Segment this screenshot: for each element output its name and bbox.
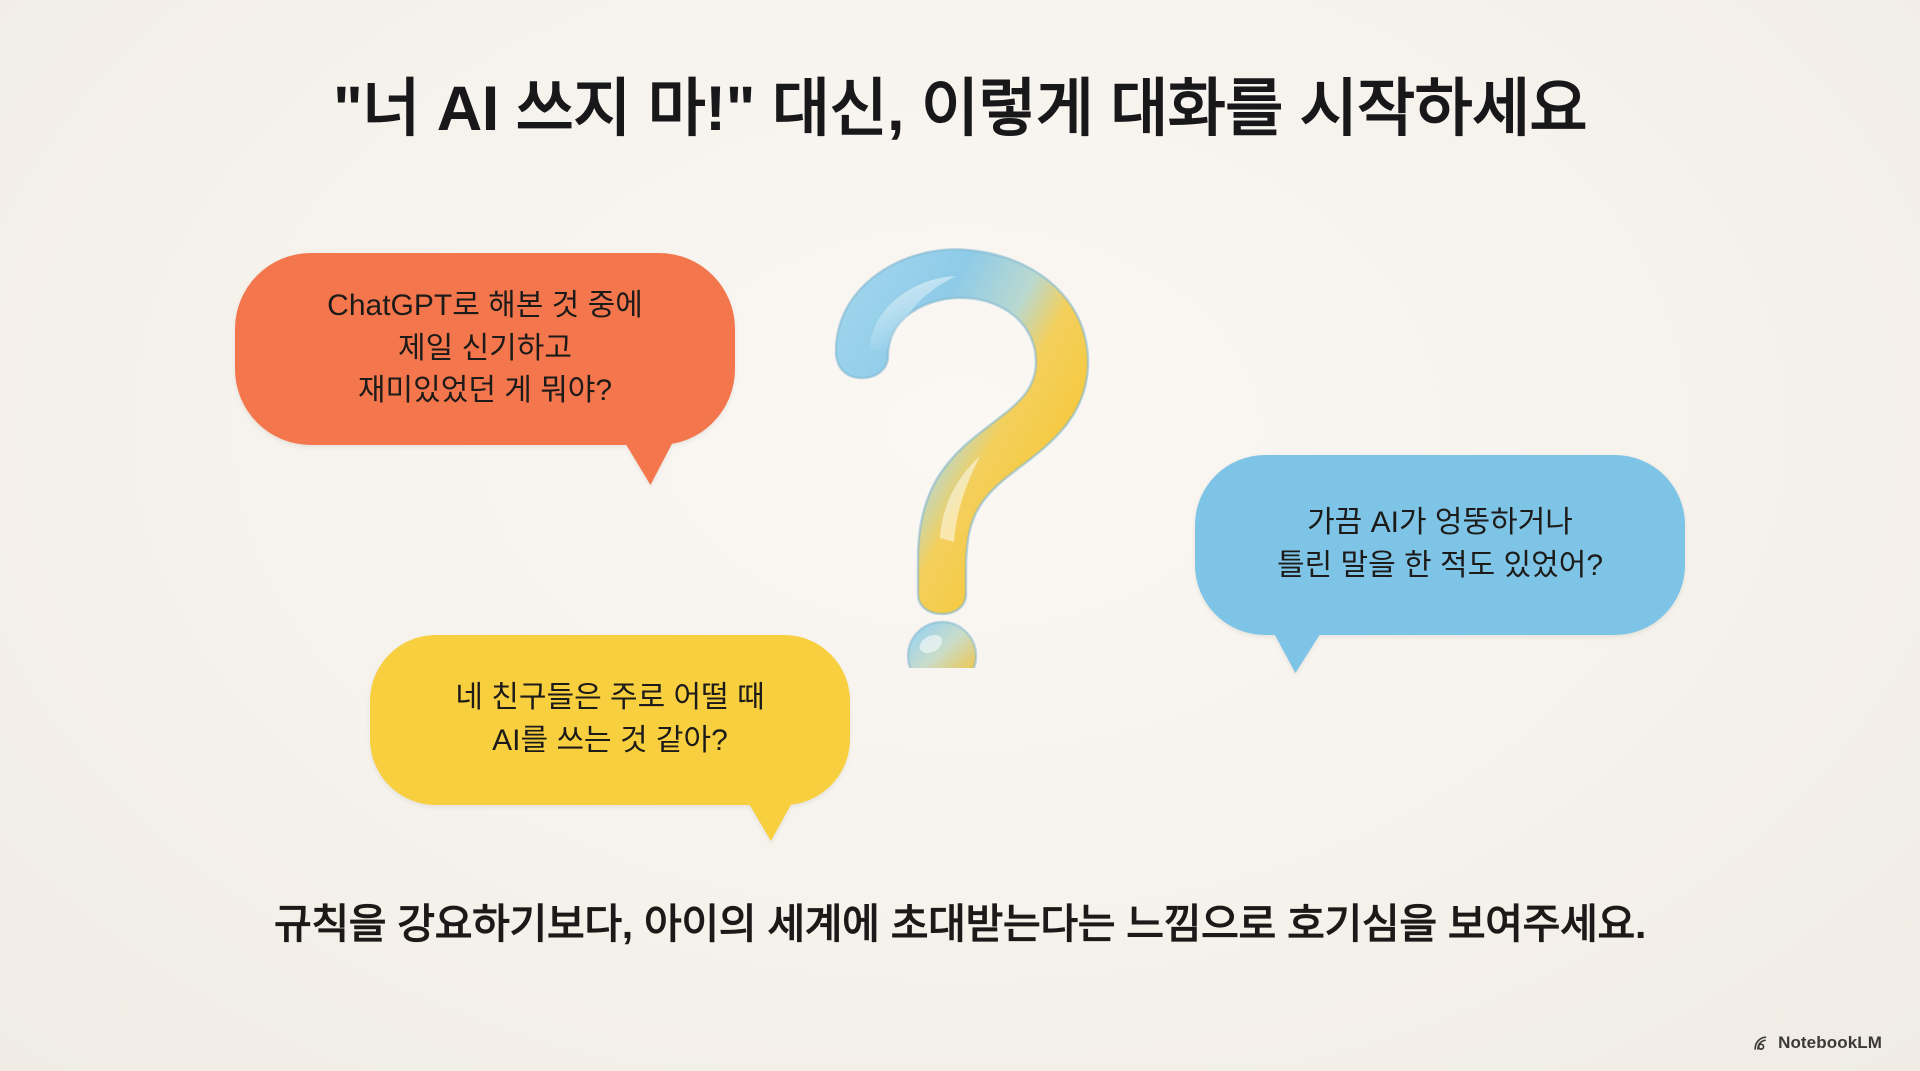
speech-bubble-blue-text: 가끔 AI가 엉뚱하거나 틀린 말을 한 적도 있었어? (1277, 502, 1603, 587)
notebooklm-watermark: NotebookLM (1752, 1033, 1882, 1053)
notebooklm-label: NotebookLM (1778, 1033, 1882, 1053)
slide-canvas: "너 AI 쓰지 마!" 대신, 이렇게 대화를 시작하세요 (0, 0, 1920, 1071)
speech-bubble-orange[interactable]: ChatGPT로 해본 것 중에 제일 신기하고 재미있었던 게 뭐야? (235, 253, 735, 445)
speech-bubble-blue-tail (1271, 627, 1330, 673)
speech-bubble-blue[interactable]: 가끔 AI가 엉뚱하거나 틀린 말을 한 적도 있었어? (1195, 455, 1685, 635)
slide-caption: 규칙을 강요하기보다, 아이의 세계에 초대받는다는 느낌으로 호기심을 보여주… (0, 890, 1920, 950)
speech-bubble-yellow[interactable]: 네 친구들은 주로 어떨 때 AI를 쓰는 것 같아? (370, 635, 850, 805)
page-title: "너 AI 쓰지 마!" 대신, 이렇게 대화를 시작하세요 (0, 72, 1920, 146)
speech-bubble-orange-text: ChatGPT로 해본 것 중에 제일 신기하고 재미있었던 게 뭐야? (327, 285, 643, 413)
speech-bubble-orange-tail (616, 437, 675, 485)
speech-bubble-yellow-text: 네 친구들은 주로 어떨 때 AI를 쓰는 것 같아? (455, 677, 764, 762)
notebooklm-icon (1752, 1034, 1771, 1053)
question-mark-icon (800, 238, 1130, 668)
speech-bubble-yellow-tail (739, 797, 795, 841)
question-mark-illustration (800, 238, 1130, 668)
